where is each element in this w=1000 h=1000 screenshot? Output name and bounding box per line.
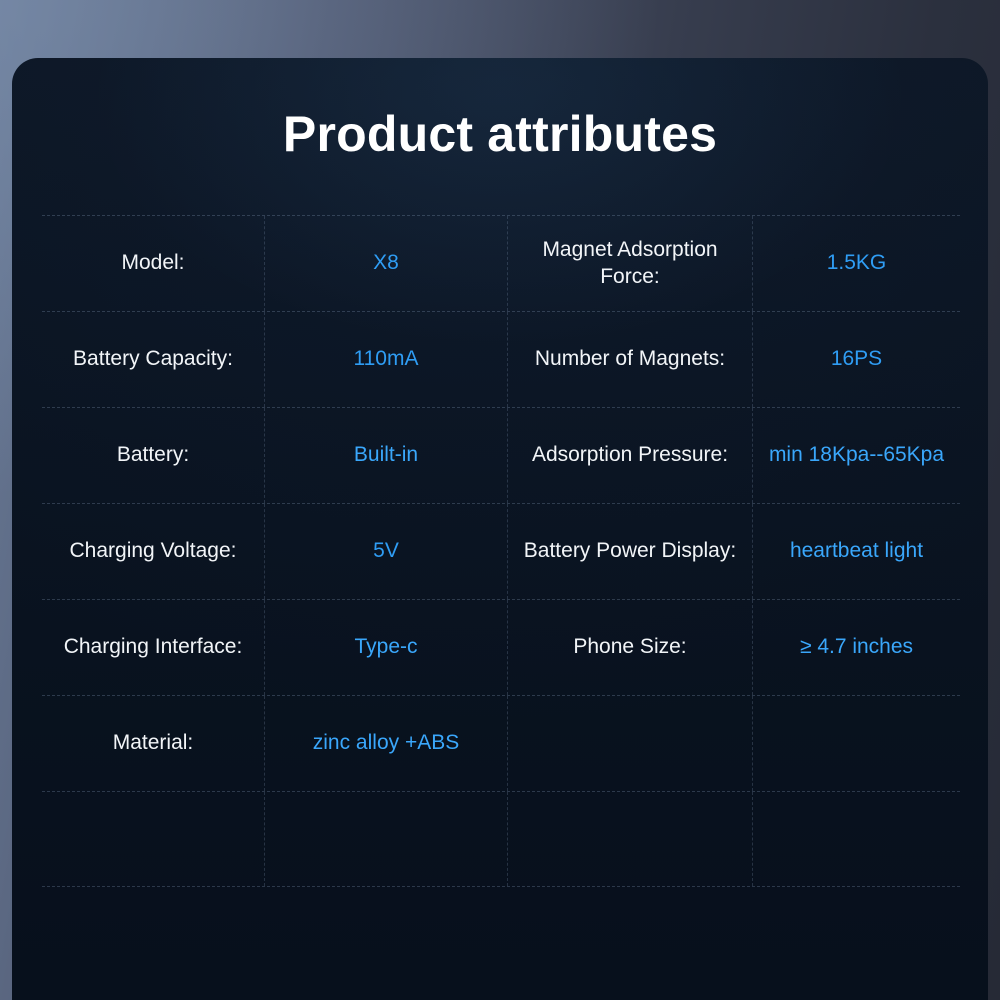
attribute-label-battery-power-display: Battery Power Display:: [507, 504, 752, 599]
attribute-label-charging-interface: Charging Interface:: [42, 600, 264, 695]
attribute-label-material: Material:: [42, 696, 264, 791]
attribute-label-charging-voltage: Charging Voltage:: [42, 504, 264, 599]
attribute-label-adsorption-pressure: Adsorption Pressure:: [507, 408, 752, 503]
attribute-value-magnet-adsorption-force: 1.5KG: [752, 216, 960, 311]
page-backdrop: Product attributes Model: X8 Magnet Adso…: [0, 0, 1000, 1000]
product-attributes-card: Product attributes Model: X8 Magnet Adso…: [12, 58, 988, 1000]
attribute-label-model: Model:: [42, 216, 264, 311]
empty-cell: [752, 792, 960, 886]
product-attributes-table: Model: X8 Magnet Adsorption Force: 1.5KG…: [42, 215, 960, 887]
table-row: Charging Interface: Type-c Phone Size: ≥…: [42, 599, 960, 695]
attribute-value-battery-capacity: 110mA: [264, 312, 507, 407]
attribute-label-empty: [507, 696, 752, 791]
attribute-value-material: zinc alloy +ABS: [264, 696, 507, 791]
attribute-label-magnet-adsorption-force: Magnet Adsorption Force:: [507, 216, 752, 311]
table-row: Material: zinc alloy +ABS: [42, 695, 960, 791]
empty-cell: [42, 792, 264, 886]
attribute-value-battery-power-display: heartbeat light: [752, 504, 960, 599]
table-row-empty: [42, 791, 960, 887]
attribute-value-number-of-magnets: 16PS: [752, 312, 960, 407]
attribute-label-phone-size: Phone Size:: [507, 600, 752, 695]
empty-cell: [507, 792, 752, 886]
empty-cell: [264, 792, 507, 886]
attribute-label-number-of-magnets: Number of Magnets:: [507, 312, 752, 407]
attribute-value-charging-voltage: 5V: [264, 504, 507, 599]
attribute-value-model: X8: [264, 216, 507, 311]
attribute-value-charging-interface: Type-c: [264, 600, 507, 695]
attribute-value-empty: [752, 696, 960, 791]
attribute-value-phone-size: ≥ 4.7 inches: [752, 600, 960, 695]
table-row: Charging Voltage: 5V Battery Power Displ…: [42, 503, 960, 599]
attribute-label-battery: Battery:: [42, 408, 264, 503]
page-title: Product attributes: [12, 105, 988, 163]
attribute-value-battery: Built-in: [264, 408, 507, 503]
attribute-value-adsorption-pressure: min 18Kpa--65Kpa: [752, 408, 960, 503]
table-row: Battery Capacity: 110mA Number of Magnet…: [42, 311, 960, 407]
table-row: Model: X8 Magnet Adsorption Force: 1.5KG: [42, 215, 960, 311]
attribute-label-battery-capacity: Battery Capacity:: [42, 312, 264, 407]
table-row: Battery: Built-in Adsorption Pressure: m…: [42, 407, 960, 503]
